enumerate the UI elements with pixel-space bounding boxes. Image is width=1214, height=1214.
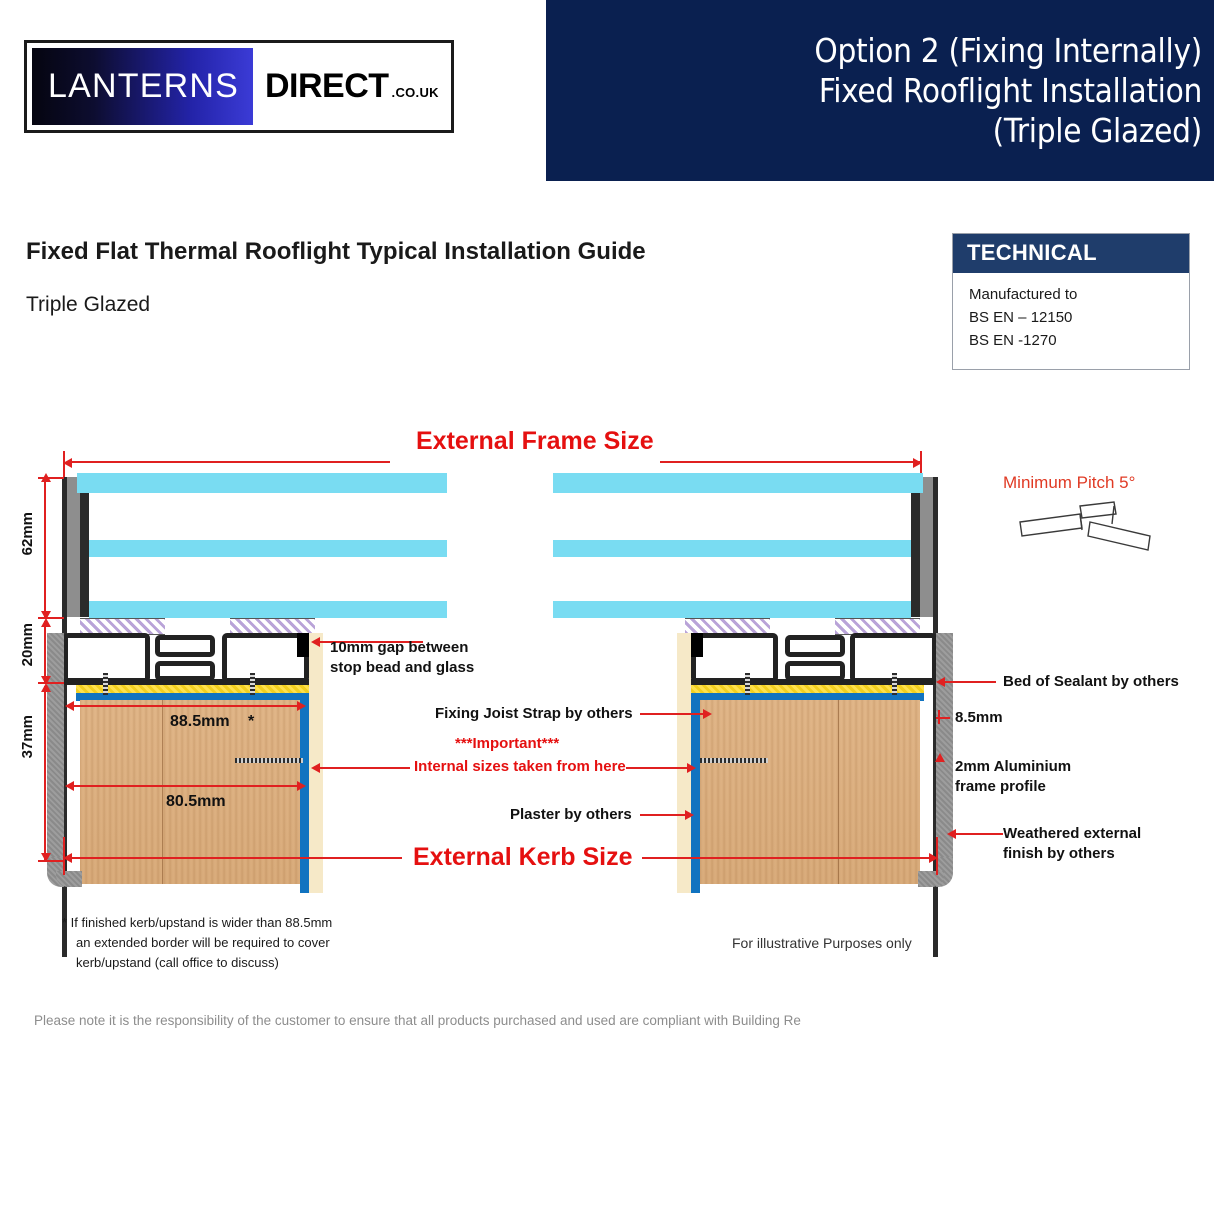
dim-20mm-line [44,621,46,683]
banner-line-1: Option 2 (Fixing Internally) [814,31,1202,71]
callout-weathered-leader [955,833,1003,835]
right-fixing-screw-b [892,673,897,695]
left-stop-bead-upright [80,485,89,617]
kerb-dim-line-left [72,857,402,859]
callout-weathered-line-2: finish by others [1003,844,1115,864]
dim-88-5mm-label: 88.5mm [170,713,230,731]
brand-logo: LANTERNS DIRECT .CO.UK [24,40,454,133]
right-stop-bead-upright [911,485,920,617]
dim-62mm-tick-top [38,477,64,479]
left-weathered-finish [47,633,64,863]
left-weathered-finish-return [56,871,82,887]
footnote-line-3: kerb/upstand (call office to discuss) [76,953,279,973]
dim-80-5mm-arrow-right [297,781,306,791]
right-outer-frame-face [920,477,934,617]
right-glass-pane-middle [553,540,911,557]
callout-10mm-line-2: stop bead and glass [330,658,474,678]
external-frame-size-label: External Frame Size [416,427,654,456]
callout-aluminium-line-1: 2mm Aluminium [955,757,1071,777]
logo-tld-text: .CO.UK [389,85,439,100]
left-joist-strap-screw [235,758,303,763]
frame-dim-arrow-right [913,458,922,468]
callout-internal-sizes-arrow-left [311,763,320,773]
callout-plaster-label: Plaster by others [510,805,632,825]
dim-88-5mm-line [72,705,304,707]
left-plaster-layer-side [300,693,309,893]
right-glass-pane-inner [553,601,911,618]
callout-sealant-leader [944,681,996,683]
callout-joist-strap-arrow [703,709,712,719]
left-glass-pane-inner [89,601,447,618]
technical-line-1: Manufactured to [969,283,1189,306]
dim-8-5mm-line [938,710,940,724]
illustrative-purposes-note: For illustrative Purposes only [732,935,912,951]
logo-lanterns-text: LANTERNS [48,67,239,106]
callout-internal-sizes-arrow-right [687,763,696,773]
callout-10mm-arrow [311,637,320,647]
left-glass-pane-middle [89,540,447,557]
dim-37mm-arrow-top [41,683,51,692]
page-subtitle: Triple Glazed [26,293,150,317]
logo-right-panel: DIRECT .CO.UK [253,67,439,106]
dim-88-5mm-arrow-left [65,701,74,711]
logo-direct-text: DIRECT [265,67,389,106]
callout-internal-sizes-leader-right [626,767,694,769]
dim-37mm-line [44,686,46,860]
footnote-line-2: an extended border will be required to c… [76,933,330,953]
callout-10mm-line-1: 10mm gap between [330,638,468,658]
banner-line-3: (Triple Glazed) [993,111,1202,151]
technical-box: TECHNICAL Manufactured to BS EN – 12150 … [952,233,1190,370]
disclaimer-text: Please note it is the responsibility of … [34,1013,801,1028]
right-plaster-layer-side [691,693,700,893]
left-outer-frame-face [66,477,80,617]
left-profile-chamber-inner [222,633,309,683]
callout-joist-strap-label: Fixing Joist Strap by others [435,704,633,724]
dim-20mm-label: 20mm [19,623,36,666]
frame-dim-line-left [72,461,390,463]
callout-weathered-arrow [947,829,956,839]
callout-important-label: ***Important*** [455,735,559,752]
dim-37mm-tick-bottom [38,860,64,862]
left-profile-chamber-mid-top [155,635,215,657]
callout-sealant-arrow [936,677,945,687]
callout-aluminium-arrow [935,753,945,762]
frame-dim-line-right [660,461,920,463]
dim-80-5mm-line [72,785,304,787]
left-profile-chamber-mid-bot [155,661,215,681]
dim-62mm-line [44,477,46,618]
dim-37mm-label: 37mm [19,715,36,758]
left-fixing-screw-a [103,673,108,695]
right-fixing-screw-a [745,673,750,695]
right-profile-chamber-mid-bot [785,661,845,681]
right-profile-chamber-inner [691,633,778,683]
external-kerb-size-label: External Kerb Size [413,843,633,872]
footnote-line-1: * If finished kerb/upstand is wider than… [62,913,332,933]
installation-diagram: External Frame Size [0,405,1214,965]
logo-left-panel: LANTERNS [32,48,253,125]
minimum-pitch-icon [1002,500,1167,562]
right-profile-chamber-mid-top [785,635,845,657]
dim-62mm-label: 62mm [19,512,36,555]
banner-line-2: Fixed Rooflight Installation [819,71,1202,111]
page-root: LANTERNS DIRECT .CO.UK Option 2 (Fixing … [0,0,1214,1214]
callout-plaster-arrow [685,810,694,820]
technical-body: Manufactured to BS EN – 12150 BS EN -127… [953,273,1189,352]
callout-sealant-label: Bed of Sealant by others [1003,672,1179,692]
technical-line-3: BS EN -1270 [969,329,1189,352]
callout-weathered-line-1: Weathered external [1003,824,1141,844]
kerb-dim-line-right [642,857,936,859]
callout-joist-strap-leader [640,713,710,715]
left-fixing-screw-b [250,673,255,695]
technical-heading: TECHNICAL [953,234,1189,273]
callout-minimum-pitch-label: Minimum Pitch 5° [1003,473,1135,493]
dim-8-5mm-label: 8.5mm [955,708,1003,728]
header-banner: Option 2 (Fixing Internally) Fixed Roofl… [546,0,1214,181]
dim-88-5mm-arrow-right [297,701,306,711]
right-glass-pane-outer [553,473,923,493]
technical-line-2: BS EN – 12150 [969,306,1189,329]
callout-internal-sizes-label: Internal sizes taken from here [414,758,626,775]
page-title: Fixed Flat Thermal Rooflight Typical Ins… [26,238,646,266]
dim-80-5mm-label: 80.5mm [166,793,226,811]
callout-internal-sizes-leader-left [318,767,410,769]
right-joist-strap-screw [700,758,768,763]
dim-20mm-arrow-top [41,618,51,627]
kerb-dim-arrow-right [929,853,938,863]
kerb-dim-arrow-left [63,853,72,863]
frame-dim-arrow-left [63,458,72,468]
dim-80-5mm-arrow-left [65,781,74,791]
left-glass-pane-outer [77,473,447,493]
dim-88-5mm-asterisk: * [248,713,254,731]
callout-aluminium-line-2: frame profile [955,777,1046,797]
